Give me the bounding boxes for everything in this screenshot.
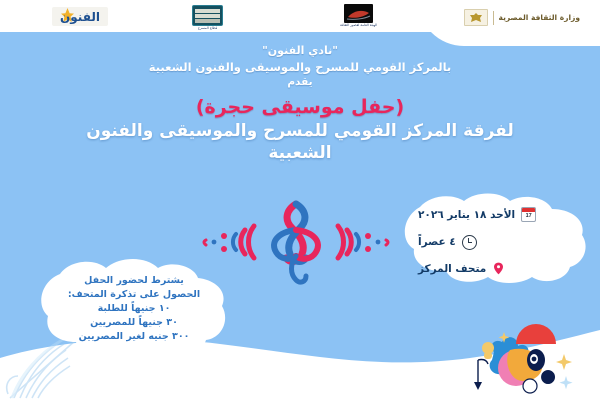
calendar-icon: 17 (521, 207, 536, 222)
ticket-pricing-cloud: يشترط لحضور الحفل الحصول على تذكرة المتح… (34, 258, 234, 358)
abstract-faces-artwork (464, 324, 584, 394)
club-name: "نادي الفنون" (0, 44, 600, 59)
alfunoon-logo: الفنون (52, 7, 108, 26)
ministry-of-culture-logo: وزارة الثقافة المصرية (464, 9, 580, 26)
headline-block: "نادي الفنون" بالمركز القومي للمسرح والم… (0, 44, 600, 164)
national-theatre-logo: قطاع المسرح (192, 5, 223, 31)
event-location: متحف المركز (418, 263, 486, 275)
dark-emblem-logo-caption: الهيئة العامة لقصور الثقافة (340, 24, 377, 28)
event-time-row: ٤ عصراً (418, 235, 576, 250)
center-name: بالمركز القومي للمسرح والموسيقى والفنون … (0, 59, 600, 75)
event-date-row: 17 الأحد ١٨ يناير ٢٠٢٦ (418, 207, 576, 222)
presents-label: يقدم (0, 75, 600, 90)
logo-row: الفنون قطاع المسرح الهيئة العامة لقصور ا… (0, 0, 600, 36)
pricing-note-line-1: يشترط لحضور الحفل (84, 275, 184, 288)
ministry-of-culture-wordmark: وزارة الثقافة المصرية (499, 13, 580, 22)
eagle-emblem-icon (464, 9, 488, 26)
troupe-name: لفرقة المركز القومي للمسرح والموسيقى وال… (0, 121, 600, 164)
pricing-note-line-2: الحصول على تذكرة المتحف: (68, 289, 200, 302)
map-pin-icon (492, 262, 505, 275)
price-non-egyptians: ٣٠٠ جنيه لغير المصريين (79, 331, 190, 344)
clock-icon (462, 235, 477, 250)
event-details-cloud: 17 الأحد ١٨ يناير ٢٠٢٦ ٤ عصراً متحف المر… (396, 193, 592, 285)
calendar-icon-day: 17 (522, 212, 535, 220)
alfunoon-wordmark: الفنون (60, 10, 100, 24)
price-students: ١٠ جنيهاً للطلبة (98, 303, 171, 316)
concert-poster: الفنون قطاع المسرح الهيئة العامة لقصور ا… (0, 0, 600, 400)
dark-emblem-logo: الهيئة العامة لقصور الثقافة (340, 4, 377, 28)
price-egyptians: ٣٠ جنيهاً للمصريين (90, 317, 178, 330)
event-title: (حفل موسيقى حجرة) (0, 95, 600, 120)
event-location-row: متحف المركز (418, 262, 576, 275)
emblem-glyph-icon (344, 4, 373, 23)
national-theatre-logo-caption: قطاع المسرح (198, 27, 218, 31)
event-date: الأحد ١٨ يناير ٢٠٢٦ (418, 209, 515, 221)
event-time: ٤ عصراً (418, 236, 456, 248)
